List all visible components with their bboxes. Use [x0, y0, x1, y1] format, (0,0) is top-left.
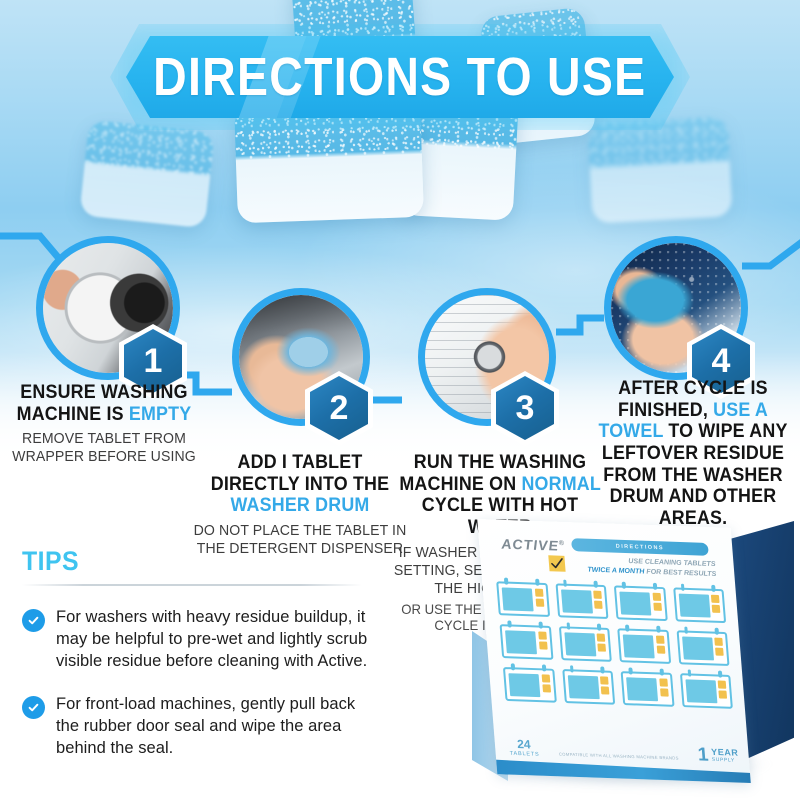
- step-heading-2-pre: ADD I TABLET DIRECTLY INTO THE: [211, 452, 390, 495]
- step-text-2: ADD I TABLET DIRECTLY INTO THE WASHER DR…: [186, 452, 414, 558]
- product-compatibility-text: COMPATIBLE WITH ALL WASHING MACHINE BRAN…: [559, 751, 679, 762]
- product-box-image: ACTIVE® DIRECTIONS USE CLEANING TABLETS …: [470, 505, 800, 800]
- product-note-line1: USE CLEANING TABLETS: [628, 558, 716, 568]
- step-heading-2-highlight: WASHER DRUM: [230, 495, 369, 516]
- product-brand-mark: ®: [558, 540, 565, 547]
- calendar-icon: [558, 626, 611, 662]
- calendar-icon: [562, 669, 615, 705]
- product-tablet-number: 24: [508, 738, 539, 752]
- page-title-banner: DIRECTIONS TO USE: [126, 36, 674, 118]
- product-directions-banner: DIRECTIONS: [571, 538, 709, 556]
- cleaning-tablet-image: [79, 120, 214, 229]
- product-supply-number: 1: [697, 746, 709, 763]
- product-brand-logo: ACTIVE®: [501, 536, 566, 554]
- step-text-1: ENSURE WASHING MACHINE IS EMPTY REMOVE T…: [6, 382, 202, 466]
- step-heading-2: ADD I TABLET DIRECTLY INTO THE WASHER DR…: [193, 452, 407, 517]
- calendar-icon: [496, 581, 549, 617]
- page-title: DIRECTIONS TO USE: [153, 50, 646, 104]
- product-supply-badge: 1 YEAR SUPPLY: [697, 746, 739, 764]
- infographic-poster: DIRECTIONS TO USE 1 ENSURE WASHING MACHI…: [0, 0, 800, 800]
- tips-title: TIPS: [22, 548, 350, 575]
- product-box-front-face: ACTIVE® DIRECTIONS USE CLEANING TABLETS …: [477, 519, 751, 783]
- calendar-icon: [676, 630, 729, 666]
- product-box-footer: 24 TABLETS COMPATIBLE WITH ALL WASHING M…: [508, 738, 739, 765]
- product-calendar-grid: [496, 581, 733, 709]
- step-subtext-1: REMOVE TABLET FROM WRAPPER BEFORE USING: [12, 430, 196, 466]
- product-supply-label: SUPPLY: [712, 757, 740, 763]
- calendar-icon: [679, 673, 732, 709]
- product-checkbox-icon: [548, 555, 565, 572]
- calendar-icon: [500, 624, 553, 660]
- calendar-icon: [621, 671, 674, 707]
- tips-section: TIPS For washers with heavy residue buil…: [22, 548, 378, 760]
- tip-list-item: For front-load machines, gently pull bac…: [22, 694, 378, 760]
- calendar-icon: [614, 585, 667, 621]
- cleaning-tablet-image: [587, 116, 732, 223]
- product-note-highlight: TWICE A MONTH: [587, 567, 645, 576]
- product-tablet-label: TABLETS: [510, 751, 540, 758]
- calendar-icon: [503, 667, 556, 703]
- product-brand-name: ACTIVE: [501, 536, 560, 554]
- tip-text: For front-load machines, gently pull bac…: [56, 694, 378, 760]
- product-tablet-count: 24 TABLETS: [508, 738, 539, 758]
- calendar-icon: [617, 628, 670, 664]
- step-heading-1-highlight: EMPTY: [129, 404, 191, 425]
- calendar-icon: [673, 587, 726, 623]
- calendar-icon: [555, 583, 608, 619]
- title-hexagon-shape: DIRECTIONS TO USE: [126, 36, 674, 118]
- check-icon: [22, 609, 45, 632]
- product-directions-note: USE CLEANING TABLETS TWICE A MONTH FOR B…: [572, 555, 716, 580]
- check-icon: [22, 696, 45, 719]
- step-heading-1: ENSURE WASHING MACHINE IS EMPTY: [12, 382, 196, 425]
- tip-list-item: For washers with heavy residue buildup, …: [22, 607, 378, 673]
- tips-divider: [22, 584, 362, 586]
- product-note-line2: FOR BEST RESULTS: [644, 569, 716, 578]
- tip-text: For washers with heavy residue buildup, …: [56, 607, 378, 673]
